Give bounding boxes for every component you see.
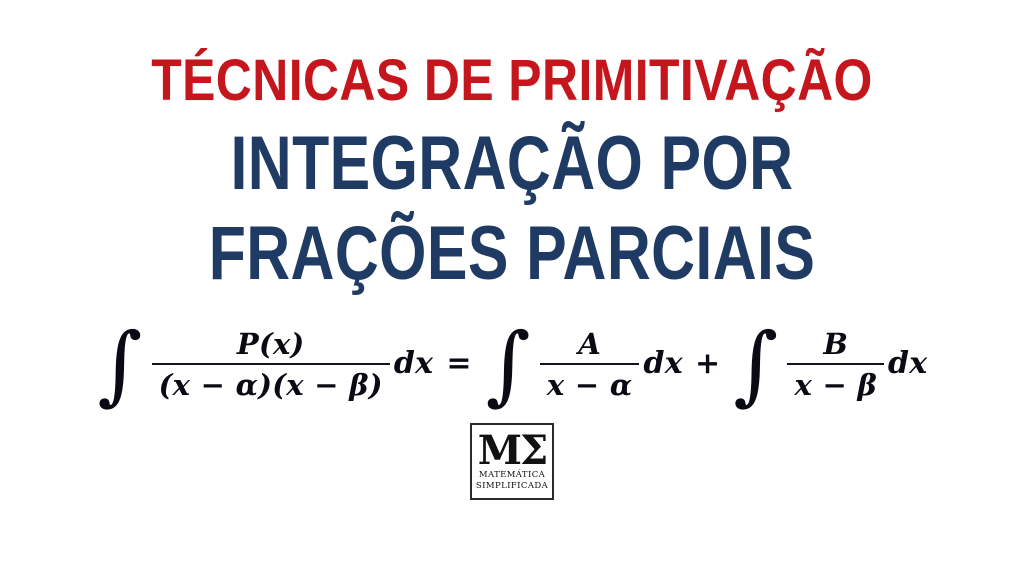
slide-canvas: TÉCNICAS DE PRIMITIVAÇÃO INTEGRAÇÃO POR …: [0, 0, 1024, 576]
logo-name-line-1: MATEMÁTICA: [479, 471, 545, 481]
formula-term-3-numerator: B: [816, 327, 855, 363]
formula-term-3-denominator: x − β: [787, 363, 884, 402]
title-main-line-1: INTEGRAÇÃO POR: [102, 126, 921, 202]
formula-equals-sign: =: [434, 346, 483, 381]
formula-term-2-fraction: A x − α: [540, 327, 640, 402]
logo-area: MΣ MATEMÁTICA SIMPLIFICADA: [470, 423, 554, 500]
formula-plus-sign: +: [684, 346, 731, 381]
logo-monogram: MΣ: [478, 432, 547, 470]
formula-term-3-differential: dx: [887, 346, 928, 381]
formula-term-1-denominator: (x − α)(x − β): [152, 363, 390, 402]
formula-area: ∫ P(x) (x − α)(x − β) dx = ∫ A x − α dx …: [0, 326, 1024, 401]
integral-sign-icon: ∫: [484, 339, 537, 392]
formula-term-3-fraction: B x − β: [787, 327, 884, 402]
partial-fractions-formula: ∫ P(x) (x − α)(x − β) dx = ∫ A x − α dx …: [96, 326, 929, 401]
formula-term-2-differential: dx: [642, 346, 683, 381]
formula-term-2-numerator: A: [571, 327, 608, 363]
formula-term-1-differential: dx: [393, 346, 434, 381]
formula-term-1-numerator: P(x): [230, 327, 312, 363]
title-kicker: TÉCNICAS DE PRIMITIVAÇÃO: [72, 52, 953, 110]
title-main-line-2: FRAÇÕES PARCIAIS: [102, 216, 921, 292]
title-block: TÉCNICAS DE PRIMITIVAÇÃO INTEGRAÇÃO POR …: [0, 0, 1024, 292]
brand-logo: MΣ MATEMÁTICA SIMPLIFICADA: [470, 423, 554, 500]
logo-name-line-2: SIMPLIFICADA: [476, 482, 548, 492]
integral-sign-icon: ∫: [731, 339, 784, 392]
formula-term-2-denominator: x − α: [540, 363, 640, 402]
formula-term-1-fraction: P(x) (x − α)(x − β): [152, 327, 390, 402]
integral-sign-icon: ∫: [96, 339, 149, 392]
